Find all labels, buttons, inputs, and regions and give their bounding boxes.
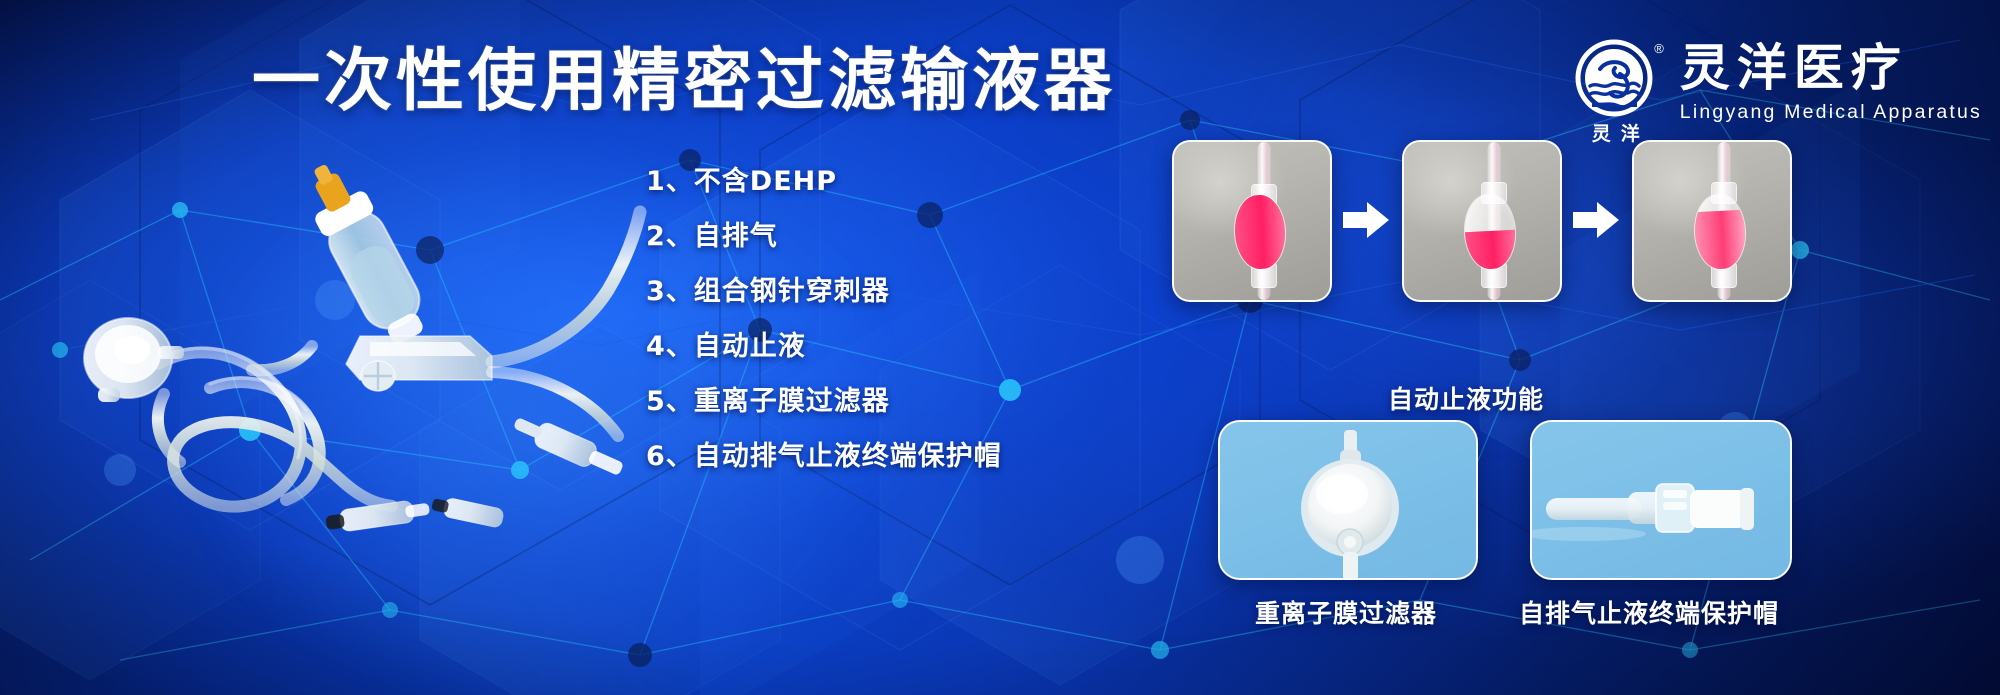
page-title: 一次性使用精密过滤输液器 <box>252 48 1116 116</box>
infusion-set-illustration <box>40 150 660 550</box>
feature-item-3: 3、组合钢针穿刺器 <box>646 278 1002 305</box>
product-banner: 一次性使用精密过滤输液器 ® 灵洋 灵洋医疗 Lingyang Medical … <box>0 0 2000 695</box>
auto-stop-step-2-photo <box>1402 140 1562 302</box>
drip-chamber <box>294 153 436 352</box>
precision-filter-infusion-set-photo <box>40 150 660 550</box>
filter-capsule <box>84 318 184 402</box>
auto-stop-step-1-photo <box>1172 140 1332 302</box>
flow-arrow-2-icon <box>1573 200 1619 240</box>
registered-trademark-icon: ® <box>1654 42 1664 55</box>
feature-item-5: 5、重离子膜过滤器 <box>646 388 1002 415</box>
auto-stop-caption: 自动止液功能 <box>1388 380 1544 416</box>
heavy-ion-membrane-filter-caption: 重离子膜过滤器 <box>1255 594 1437 630</box>
roller-clamp <box>346 336 492 391</box>
self-venting-end-cap-caption: 自排气止液终端保护帽 <box>1519 594 1779 630</box>
auto-stop-step-3-photo <box>1632 140 1792 302</box>
logo-emblem-icon <box>1570 36 1662 124</box>
flow-arrow-1-icon <box>1343 200 1389 240</box>
brand-text-block: 灵洋医疗 Lingyang Medical Apparatus <box>1680 36 1982 124</box>
brand-lockup: ® 灵洋 灵洋医疗 Lingyang Medical Apparatus <box>1570 36 1982 146</box>
heavy-ion-membrane-filter-photo <box>1218 420 1478 580</box>
self-venting-end-cap-photo <box>1530 420 1792 580</box>
feature-item-6: 6、自动排气止液终端保护帽 <box>646 443 1002 470</box>
feature-item-2: 2、自排气 <box>646 223 1002 250</box>
feature-item-1: 1、不含DEHP <box>646 168 1002 195</box>
feature-item-4: 4、自动止液 <box>646 333 1002 360</box>
brand-name-en: Lingyang Medical Apparatus <box>1680 101 1982 124</box>
brand-name-cn: 灵洋医疗 <box>1680 42 1982 95</box>
feature-list: 1、不含DEHP 2、自排气 3、组合钢针穿刺器 4、自动止液 5、重离子膜过滤… <box>646 168 1002 470</box>
lingyang-circular-wave-logo: ® 灵洋 <box>1570 36 1662 146</box>
